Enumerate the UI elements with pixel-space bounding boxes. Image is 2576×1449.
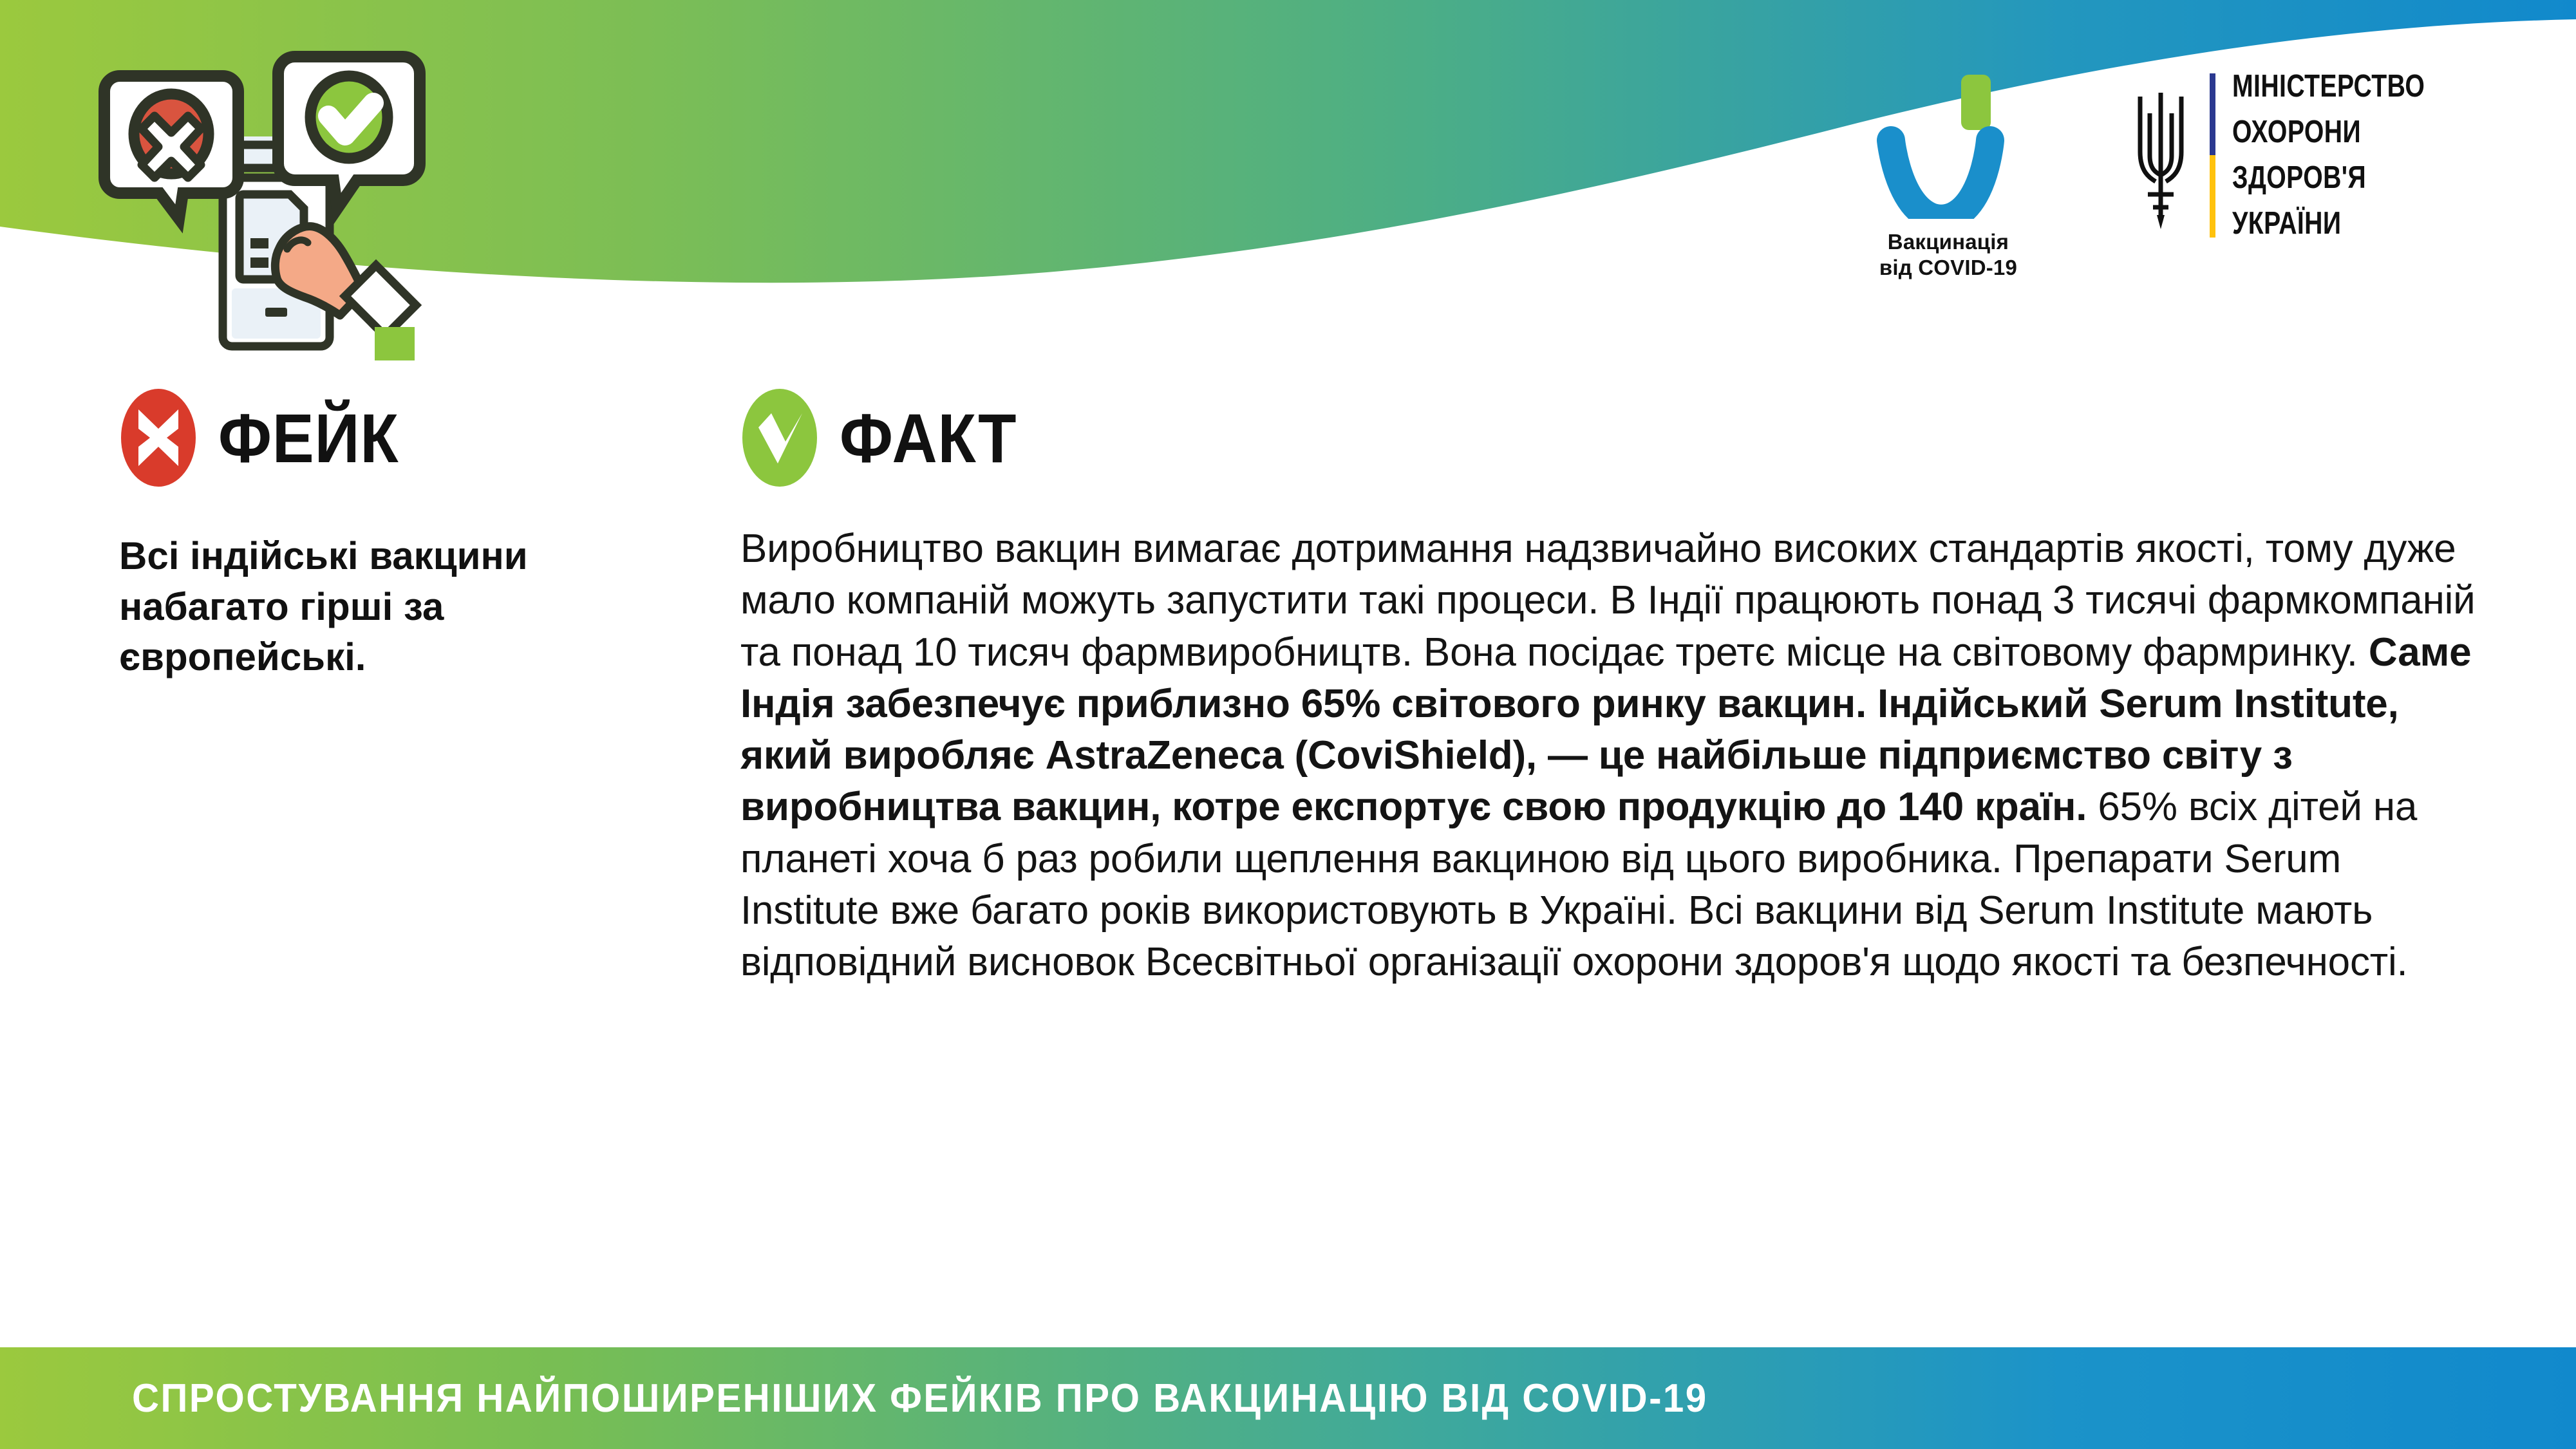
ministry-line-3: ЗДОРОВ'Я [2232, 162, 2425, 194]
vaccination-caption-line1: Вакцинація [1879, 229, 2017, 255]
rule-blue-half [2210, 73, 2215, 156]
fact-column-label: ФАКТ [840, 398, 1017, 478]
red-cross-badge-icon [119, 386, 198, 489]
fake-column-label: ФЕЙК [218, 398, 399, 478]
ministry-line-4: УКРАЇНИ [2232, 208, 2425, 239]
red-cross-speech-bubble [104, 76, 238, 219]
fake-column-header: ФЕЙК [119, 383, 679, 492]
ministry-line-2: ОХОРОНИ [2232, 117, 2425, 148]
tryzub-coat-of-arms-icon [2129, 75, 2193, 236]
fake-column: ФЕЙК Всі індійські вакцини набагато гірш… [119, 383, 679, 683]
rule-yellow-half [2210, 155, 2215, 238]
ministry-logo-rule [2210, 73, 2215, 238]
green-accent-corner [375, 327, 415, 360]
fact-statement-text: Виробництво вакцин вимагає дотримання на… [740, 523, 2479, 989]
brand-lockup: Вакцинація від COVID-19 МІНІСТЕРСТВО ОХО… [1852, 71, 2473, 281]
vaccination-caption-line2: від COVID-19 [1879, 255, 2017, 281]
fake-statement-text: Всі індійські вакцини набагато гірші за … [119, 531, 679, 683]
vaccination-logo-caption: Вакцинація від COVID-19 [1879, 229, 2017, 281]
fact-column: ФАКТ Виробництво вакцин вимагає дотриман… [740, 383, 2479, 989]
fact-text-part1: Виробництво вакцин вимагає дотримання на… [740, 527, 2476, 675]
smartphone-fact-check-illustration [97, 26, 457, 360]
ministry-of-health-logo: МІНІСТЕРСТВО ОХОРОНИ ЗДОРОВ'Я УКРАЇНИ [2129, 71, 2473, 239]
bottom-banner: СПРОСТУВАННЯ НАЙПОШИРЕНІШИХ ФЕЙКІВ ПРО В… [0, 1347, 2576, 1449]
fact-column-header: ФАКТ [740, 383, 2479, 492]
bottom-banner-text: СПРОСТУВАННЯ НАЙПОШИРЕНІШИХ ФЕЙКІВ ПРО В… [132, 1376, 1708, 1421]
green-check-speech-bubble [278, 57, 420, 209]
v-checkmark-icon [1868, 71, 2029, 219]
ministry-line-1: МІНІСТЕРСТВО [2232, 71, 2425, 102]
ministry-logo-text: МІНІСТЕРСТВО ОХОРОНИ ЗДОРОВ'Я УКРАЇНИ [2232, 71, 2425, 239]
vaccination-logo: Вакцинація від COVID-19 [1852, 71, 2045, 281]
green-check-badge-icon [740, 386, 819, 489]
